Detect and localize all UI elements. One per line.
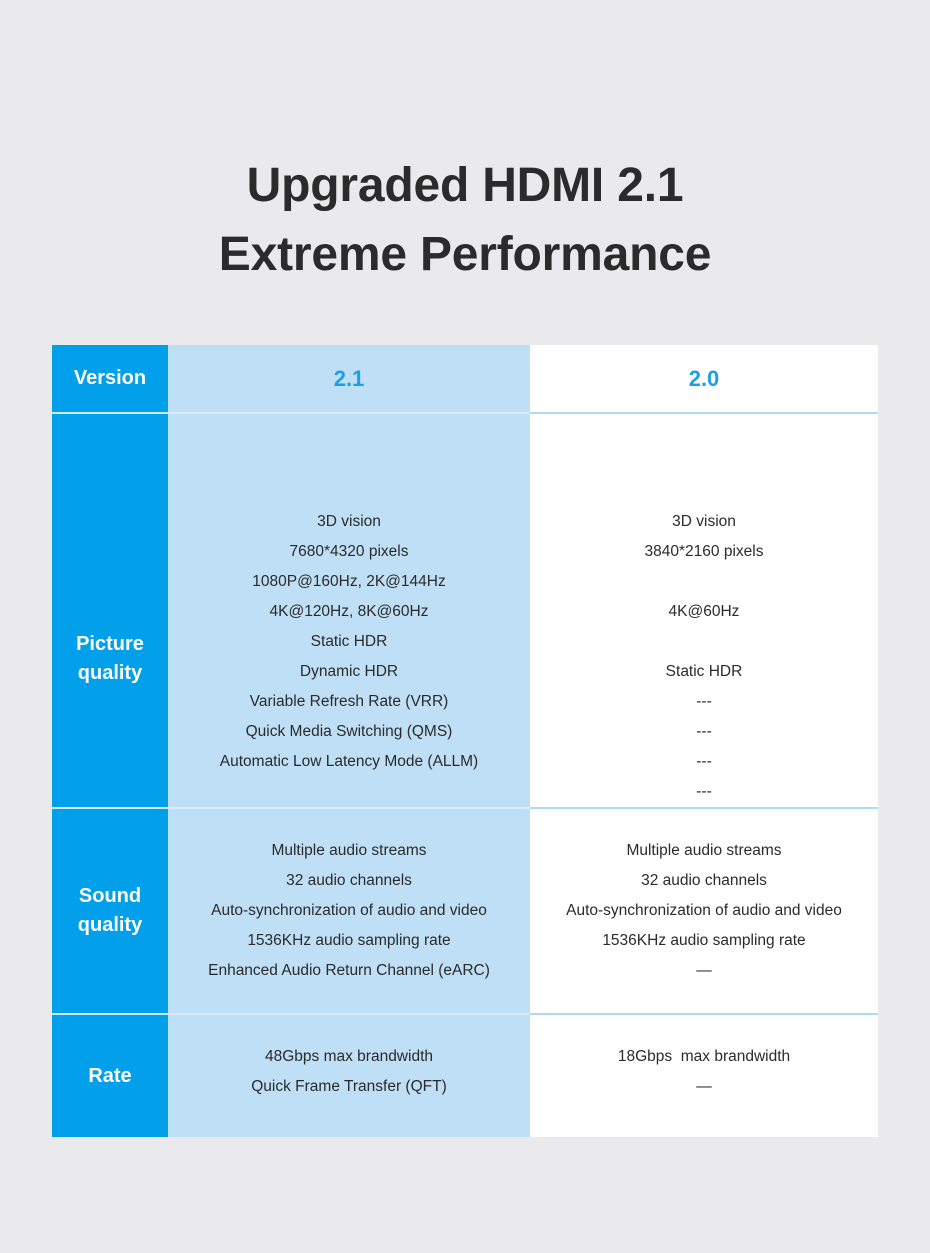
row-label-line-2: quality <box>78 662 142 684</box>
spec-line: 7680*4320 pixels <box>168 537 530 567</box>
spec-line: 32 audio channels <box>168 866 530 896</box>
spec-line: Variable Refresh Rate (VRR) <box>168 687 530 717</box>
row-label-picture-quality: Picture quality <box>52 413 168 808</box>
row-label-rate: Rate <box>52 1014 168 1137</box>
page-title-line-2: Extreme Performance <box>0 221 930 290</box>
cell-picture-quality-hdmi20: 3D vision3840*2160 pixels4K@60HzStatic H… <box>530 413 878 808</box>
spec-line: --- <box>530 687 878 717</box>
table-header-hdmi21-label: 2.1 <box>168 366 530 392</box>
spec-list-rate-hdmi20: 18Gbps max brandwidth— <box>530 1042 878 1102</box>
cell-rate-hdmi20: 18Gbps max brandwidth— <box>530 1014 878 1137</box>
row-label-sound-quality-text: Sound quality <box>52 882 168 940</box>
spec-line: 48Gbps max brandwidth <box>168 1042 530 1072</box>
row-label-picture-quality-text: Picture quality <box>52 414 168 688</box>
row-label-line-1: Sound <box>79 885 141 907</box>
spec-line: 3D vision <box>530 507 878 537</box>
spec-list-rate-hdmi21: 48Gbps max brandwidthQuick Frame Transfe… <box>168 1042 530 1102</box>
spec-line: --- <box>530 717 878 747</box>
table-header-hdmi21: 2.1 <box>168 345 530 413</box>
spec-line: 1080P@160Hz, 2K@144Hz <box>168 567 530 597</box>
row-label-sound-quality: Sound quality <box>52 808 168 1014</box>
spec-line: 4K@120Hz, 8K@60Hz <box>168 597 530 627</box>
spec-line <box>530 567 878 597</box>
spec-line: Quick Media Switching (QMS) <box>168 717 530 747</box>
table-header-version-label: Version <box>52 364 168 393</box>
table-row-sound-quality: Sound quality Multiple audio streams32 a… <box>52 808 878 1014</box>
spec-line: 3D vision <box>168 507 530 537</box>
cell-picture-quality-hdmi21: 3D vision7680*4320 pixels1080P@160Hz, 2K… <box>168 413 530 808</box>
page-title: Upgraded HDMI 2.1 Extreme Performance <box>0 152 930 289</box>
spec-line: 3840*2160 pixels <box>530 537 878 567</box>
table-row-picture-quality: Picture quality 3D vision7680*4320 pixel… <box>52 413 878 808</box>
table-header-row: Version 2.1 2.0 <box>52 345 878 413</box>
cell-sound-quality-hdmi20: Multiple audio streams32 audio channelsA… <box>530 808 878 1014</box>
spec-list-sound-hdmi20: Multiple audio streams32 audio channelsA… <box>530 836 878 986</box>
spec-line: Dynamic HDR <box>168 657 530 687</box>
table-header-hdmi20: 2.0 <box>530 345 878 413</box>
spec-line: — <box>530 1072 878 1102</box>
hdmi-comparison-table: Version 2.1 2.0 Picture quality 3D vi <box>52 345 878 1137</box>
spec-line: Auto-synchronization of audio and video <box>530 896 878 926</box>
spec-line <box>530 627 878 657</box>
cell-rate-hdmi21: 48Gbps max brandwidthQuick Frame Transfe… <box>168 1014 530 1137</box>
spec-line: 18Gbps max brandwidth <box>530 1042 878 1072</box>
spec-line: 4K@60Hz <box>530 597 878 627</box>
spec-line: Static HDR <box>168 627 530 657</box>
spec-list-picture-hdmi21: 3D vision7680*4320 pixels1080P@160Hz, 2K… <box>168 414 530 777</box>
page-title-line-1: Upgraded HDMI 2.1 <box>0 152 930 221</box>
row-label-rate-text: Rate <box>52 1062 168 1091</box>
row-label-line-2: quality <box>78 914 142 936</box>
spec-line: — <box>530 956 878 986</box>
spec-line: --- <box>530 777 878 807</box>
spec-line: Multiple audio streams <box>530 836 878 866</box>
spec-line: 1536KHz audio sampling rate <box>168 926 530 956</box>
table-row-rate: Rate 48Gbps max brandwidthQuick Frame Tr… <box>52 1014 878 1137</box>
cell-sound-quality-hdmi21: Multiple audio streams32 audio channelsA… <box>168 808 530 1014</box>
spec-line: Auto-synchronization of audio and video <box>168 896 530 926</box>
spec-line: Multiple audio streams <box>168 836 530 866</box>
table-header-hdmi20-label: 2.0 <box>530 366 878 392</box>
table-header-version: Version <box>52 345 168 413</box>
spec-list-sound-hdmi21: Multiple audio streams32 audio channelsA… <box>168 836 530 986</box>
spec-line: Static HDR <box>530 657 878 687</box>
spec-line: --- <box>530 747 878 777</box>
spec-line: Enhanced Audio Return Channel (eARC) <box>168 956 530 986</box>
spec-line: 1536KHz audio sampling rate <box>530 926 878 956</box>
spec-line: Automatic Low Latency Mode (ALLM) <box>168 747 530 777</box>
product-spec-page: Upgraded HDMI 2.1 Extreme Performance Ve… <box>0 0 930 1253</box>
row-label-line-1: Picture <box>76 633 144 655</box>
spec-line: 32 audio channels <box>530 866 878 896</box>
spec-line: Quick Frame Transfer (QFT) <box>168 1072 530 1102</box>
spec-list-picture-hdmi20: 3D vision3840*2160 pixels4K@60HzStatic H… <box>530 414 878 807</box>
